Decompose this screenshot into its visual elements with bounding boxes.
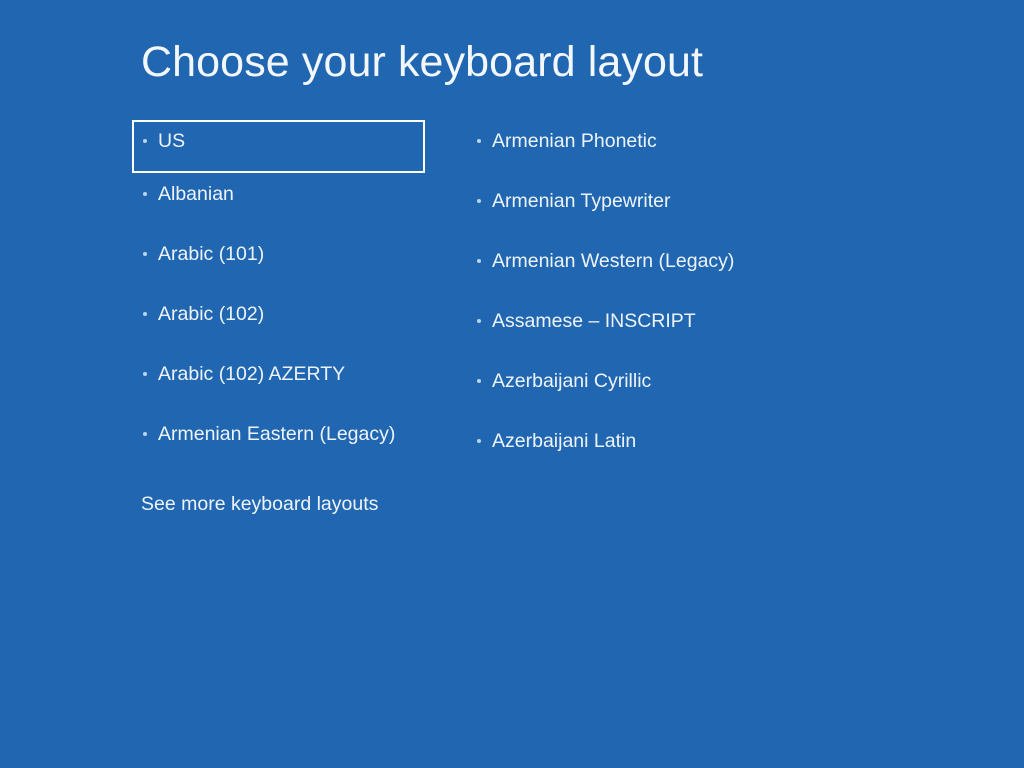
bullet-dot-icon	[477, 199, 481, 203]
keyboard-layout-label: Azerbaijani Latin	[492, 429, 636, 453]
keyboard-layout-option-azerbaijani-cyrillic[interactable]: Azerbaijani Cyrillic	[460, 360, 790, 420]
bullet-dot-icon	[477, 319, 481, 323]
keyboard-layout-option-us[interactable]: US	[132, 120, 425, 173]
bullet-dot-icon	[477, 439, 481, 443]
keyboard-layout-option-arabic-102[interactable]: Arabic (102)	[132, 293, 432, 353]
keyboard-layout-label: Arabic (102) AZERTY	[158, 362, 345, 386]
keyboard-layout-label: Arabic (101)	[158, 242, 264, 266]
see-more-keyboard-layouts-link[interactable]: See more keyboard layouts	[141, 492, 378, 516]
keyboard-layout-option-armenian-phonetic[interactable]: Armenian Phonetic	[460, 120, 790, 180]
keyboard-layout-label: Azerbaijani Cyrillic	[492, 369, 651, 393]
keyboard-layout-option-armenian-typewriter[interactable]: Armenian Typewriter	[460, 180, 790, 240]
keyboard-layout-screen: Choose your keyboard layout US Albanian …	[0, 0, 1024, 768]
keyboard-layout-label: US	[158, 129, 185, 153]
keyboard-layout-label: Armenian Typewriter	[492, 189, 670, 213]
keyboard-layout-option-assamese-inscript[interactable]: Assamese – INSCRIPT	[460, 300, 790, 360]
bullet-dot-icon	[143, 312, 147, 316]
keyboard-layout-option-albanian[interactable]: Albanian	[132, 173, 432, 233]
keyboard-layout-option-arabic-102-azerty[interactable]: Arabic (102) AZERTY	[132, 353, 432, 413]
bullet-dot-icon	[143, 372, 147, 376]
keyboard-layout-list-left: US Albanian Arabic (101) Arabic (102) Ar…	[132, 120, 432, 473]
bullet-dot-icon	[477, 379, 481, 383]
bullet-dot-icon	[143, 139, 147, 143]
keyboard-layout-label: Albanian	[158, 182, 234, 206]
keyboard-layout-label: Armenian Western (Legacy)	[492, 249, 734, 273]
keyboard-layout-label: Assamese – INSCRIPT	[492, 309, 696, 333]
bullet-dot-icon	[477, 139, 481, 143]
keyboard-layout-label: Arabic (102)	[158, 302, 264, 326]
bullet-dot-icon	[143, 192, 147, 196]
keyboard-layout-label: Armenian Phonetic	[492, 129, 657, 153]
bullet-dot-icon	[143, 432, 147, 436]
keyboard-layout-option-azerbaijani-latin[interactable]: Azerbaijani Latin	[460, 420, 790, 480]
bullet-dot-icon	[477, 259, 481, 263]
keyboard-layout-option-arabic-101[interactable]: Arabic (101)	[132, 233, 432, 293]
bullet-dot-icon	[143, 252, 147, 256]
keyboard-layout-option-armenian-eastern-legacy[interactable]: Armenian Eastern (Legacy)	[132, 413, 432, 473]
keyboard-layout-label: Armenian Eastern (Legacy)	[158, 422, 395, 446]
keyboard-layout-list-right: Armenian Phonetic Armenian Typewriter Ar…	[460, 120, 790, 480]
keyboard-layout-option-armenian-western-legacy[interactable]: Armenian Western (Legacy)	[460, 240, 790, 300]
page-title: Choose your keyboard layout	[141, 38, 703, 87]
